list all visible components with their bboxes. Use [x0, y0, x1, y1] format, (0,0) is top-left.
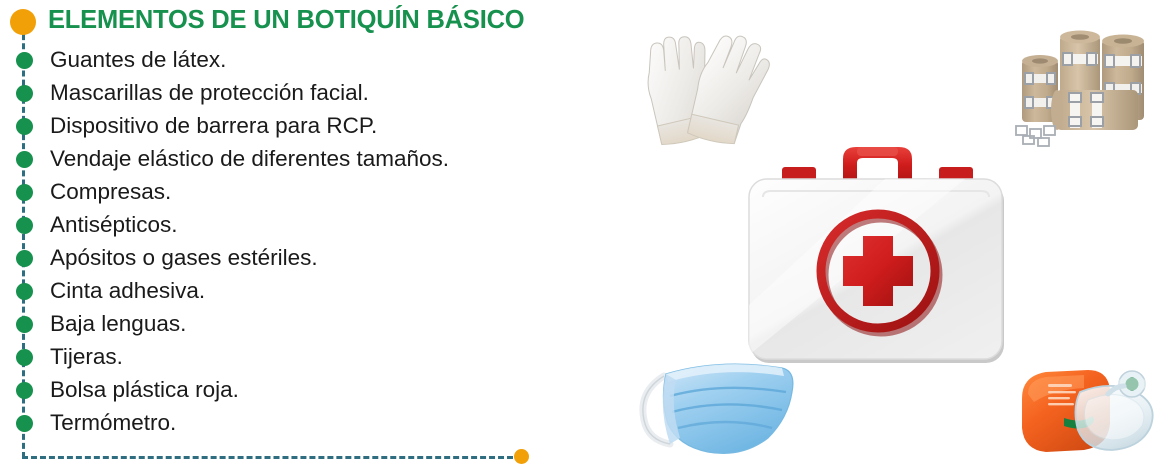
green-circle-bullet-icon — [16, 349, 33, 366]
supplies-list: Guantes de látex. Mascarillas de protecc… — [0, 44, 580, 440]
list-item: Dispositivo de barrera para RCP. — [0, 110, 580, 143]
cpr-pocket-mask-photo — [1012, 358, 1162, 464]
illustrations-panel — [580, 0, 1170, 469]
list-item: Tijeras. — [0, 341, 580, 374]
list-item-label: Dispositivo de barrera para RCP. — [50, 109, 377, 142]
list-item-label: Tijeras. — [50, 340, 123, 373]
green-circle-bullet-icon — [16, 250, 33, 267]
timeline-end-orange-circle-icon — [514, 449, 529, 464]
items-list-panel: ELEMENTOS DE UN BOTIQUÍN BÁSICO Guantes … — [0, 0, 580, 469]
list-item: Cinta adhesiva. — [0, 275, 580, 308]
green-circle-bullet-icon — [16, 415, 33, 432]
list-item: Vendaje elástico de diferentes tamaños. — [0, 143, 580, 176]
green-circle-bullet-icon — [16, 283, 33, 300]
green-circle-bullet-icon — [16, 52, 33, 69]
list-item: Bolsa plástica roja. — [0, 374, 580, 407]
green-circle-bullet-icon — [16, 118, 33, 135]
green-circle-bullet-icon — [16, 151, 33, 168]
green-circle-bullet-icon — [16, 184, 33, 201]
timeline-horizontal-dashed-line — [22, 456, 522, 459]
list-item-label: Cinta adhesiva. — [50, 274, 205, 307]
list-item-label: Baja lenguas. — [50, 307, 186, 340]
green-circle-bullet-icon — [16, 217, 33, 234]
list-item-label: Bolsa plástica roja. — [50, 373, 239, 406]
list-item: Compresas. — [0, 176, 580, 209]
list-item-label: Compresas. — [50, 175, 171, 208]
page-title: ELEMENTOS DE UN BOTIQUÍN BÁSICO — [48, 6, 524, 35]
first-aid-kit-illustration — [735, 125, 1020, 380]
list-item-label: Vendaje elástico de diferentes tamaños. — [50, 142, 449, 175]
green-circle-bullet-icon — [16, 85, 33, 102]
list-item: Baja lenguas. — [0, 308, 580, 341]
list-item-label: Apósitos o gases estériles. — [50, 241, 318, 274]
list-item-label: Mascarillas de protección facial. — [50, 76, 369, 109]
surgical-mask-photo — [630, 352, 805, 464]
slide-canvas: ELEMENTOS DE UN BOTIQUÍN BÁSICO Guantes … — [0, 0, 1170, 469]
list-item: Mascarillas de protección facial. — [0, 77, 580, 110]
list-item: Antisépticos. — [0, 209, 580, 242]
list-item: Termómetro. — [0, 407, 580, 440]
orange-circle-icon — [10, 9, 36, 35]
elastic-bandages-photo — [1008, 22, 1158, 147]
list-item-label: Antisépticos. — [50, 208, 178, 241]
list-item: Apósitos o gases estériles. — [0, 242, 580, 275]
green-circle-bullet-icon — [16, 382, 33, 399]
list-item-label: Guantes de látex. — [50, 43, 226, 76]
list-item-label: Termómetro. — [50, 406, 176, 439]
green-circle-bullet-icon — [16, 316, 33, 333]
list-item: Guantes de látex. — [0, 44, 580, 77]
